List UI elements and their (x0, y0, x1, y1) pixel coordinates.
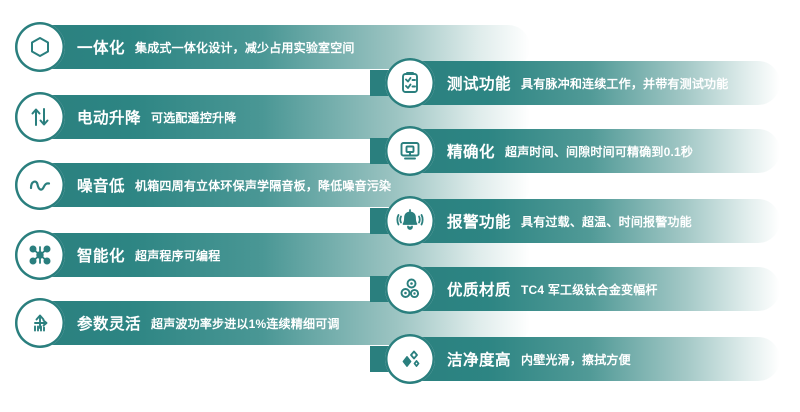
feature-bar (385, 337, 780, 381)
alarm-bell-icon (385, 196, 435, 246)
sound-wave-icon (15, 160, 65, 210)
molecule-circles-icon (385, 264, 435, 314)
monitor-icon (385, 126, 435, 176)
feature-row: 测试功能 具有脉冲和连续工作，并带有测试功能 (370, 58, 780, 108)
hexagon-icon (15, 22, 65, 72)
feature-bar (385, 199, 780, 243)
up-down-arrows-icon (15, 92, 65, 142)
feature-bar (385, 61, 780, 105)
feature-bar (385, 267, 780, 311)
feature-infographic: 一体化 集成式一体化设计，减少占用实验室空间 电动升降 可选配遥控升降 (0, 0, 800, 412)
sparkle-diamonds-icon (385, 334, 435, 384)
feature-row: 优质材质 TC4 军工级钛合金变幅杆 (370, 264, 780, 314)
feature-bar (385, 129, 780, 173)
feature-row: 精确化 超声时间、间隙时间可精确到0.1秒 (370, 126, 780, 176)
checklist-icon (385, 58, 435, 108)
feature-row: 报警功能 具有过载、超温、时间报警功能 (370, 196, 780, 246)
feature-row: 洁净度高 内壁光滑，擦拭方便 (370, 334, 780, 384)
adjust-arrows-icon (15, 298, 65, 348)
network-nodes-icon (15, 230, 65, 280)
